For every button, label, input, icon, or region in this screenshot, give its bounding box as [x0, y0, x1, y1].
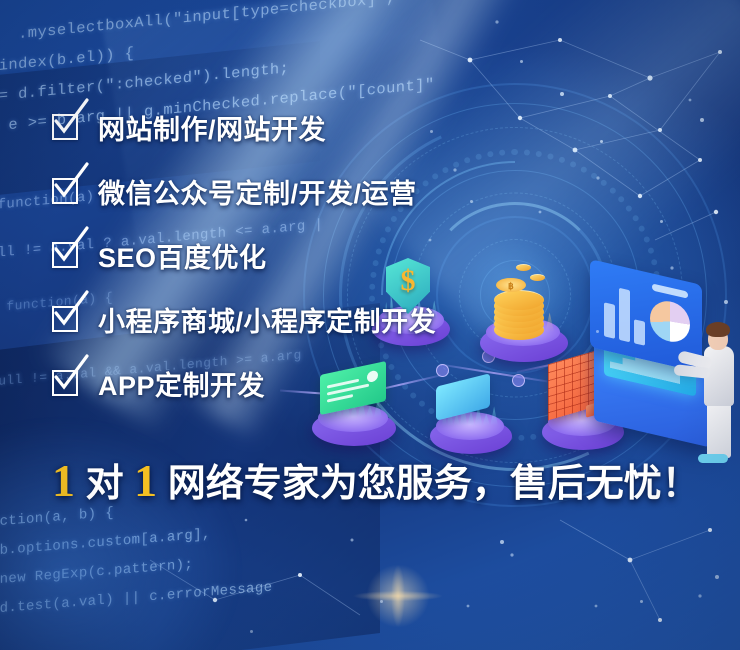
- particle: [700, 118, 704, 122]
- tagline-number-second: 1: [134, 455, 157, 506]
- feature-label: APP定制开发: [98, 364, 265, 403]
- feature-label: SEO百度优化: [98, 236, 267, 275]
- feature-item-wechat[interactable]: 微信公众号定制/开发/运营: [52, 168, 672, 214]
- checkbox-checked-icon[interactable]: [52, 114, 78, 140]
- feature-item-miniprogram[interactable]: 小程序商城/小程序定制开发: [52, 296, 672, 342]
- particle: [250, 630, 253, 633]
- particle: [640, 600, 643, 603]
- feature-item-seo[interactable]: SEO百度优化: [52, 232, 672, 278]
- particle: [520, 60, 523, 63]
- checkbox-checked-icon[interactable]: [52, 306, 78, 332]
- checkbox-checked-icon[interactable]: [52, 370, 78, 396]
- particle: [560, 92, 564, 96]
- checkbox-checked-icon[interactable]: [52, 242, 78, 268]
- feature-list: 网站制作/网站开发 微信公众号定制/开发/运营 SEO百度优化: [52, 104, 672, 424]
- particle: [380, 600, 383, 603]
- person-operator-icon: [694, 310, 740, 462]
- feature-label: 微信公众号定制/开发/运营: [98, 172, 417, 211]
- feature-label: 网站制作/网站开发: [98, 108, 326, 147]
- particle: [500, 540, 504, 544]
- feature-label: 小程序商城/小程序定制开发: [98, 300, 436, 339]
- tagline-rest: 网络专家为您服务，售后无忧！: [168, 463, 700, 505]
- tagline: 1 对 1 网络专家为您服务，售后无忧！: [52, 452, 700, 507]
- checkbox-checked-icon[interactable]: [52, 178, 78, 204]
- tagline-word-dui: 对: [86, 463, 124, 505]
- feature-item-website[interactable]: 网站制作/网站开发: [52, 104, 672, 150]
- tagline-number-first: 1: [52, 455, 75, 506]
- star-flare-decoration: [338, 551, 458, 641]
- feature-item-app[interactable]: APP定制开发: [52, 360, 672, 406]
- particle: [715, 575, 719, 579]
- promo-banner: .myselectboxAll("input[type=checkbox]", …: [0, 0, 740, 650]
- particle: [724, 300, 728, 304]
